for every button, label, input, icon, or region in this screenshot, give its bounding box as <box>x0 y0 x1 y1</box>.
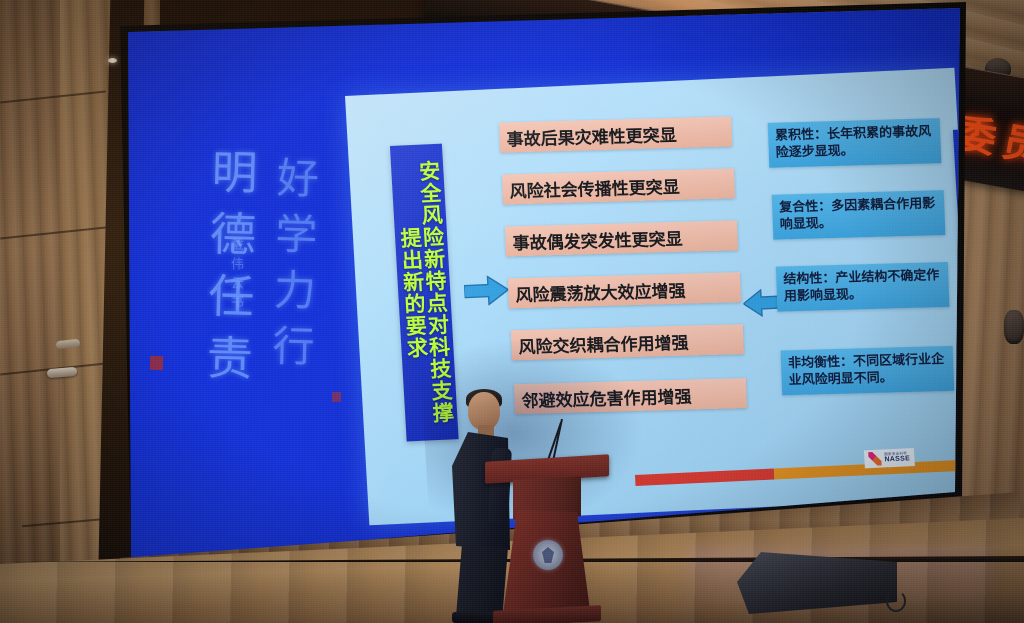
risk-feature-item: 风险交织耦合作用增强 <box>511 324 744 360</box>
conference-hall-photo: 大学应急管理实验室学术委员会专家报 明德任责 好学力行 戴伟云书 明德任责 好学… <box>0 0 1024 623</box>
risk-attribute-label: 非均衡性：不同区域行业企业风险明显不同。 <box>788 352 947 389</box>
risk-feature-item: 事故偶发突发性更突显 <box>505 220 738 256</box>
risk-feature-label: 事故后果灾难性更突显 <box>506 120 677 150</box>
calligraphy-signature: 戴伟云书 <box>226 238 245 314</box>
risk-feature-item: 邻避效应危害作用增强 <box>514 378 747 414</box>
risk-attribute-item: 累积性：长年积累的事故风险逐步显现。 <box>768 118 942 168</box>
calligraphy-left-secondary: 好学力行 <box>259 155 326 381</box>
ceiling-light-icon <box>108 58 117 63</box>
risk-feature-item: 事故后果灾难性更突显 <box>499 116 732 152</box>
risk-feature-label: 风险社会传播性更突显 <box>509 172 680 202</box>
calligraphy-left-primary: 明德任责 <box>193 147 265 397</box>
risk-feature-label: 事故偶发突发性更突显 <box>512 224 683 254</box>
nasse-logo: 国家安全科学 NASSE <box>864 448 915 468</box>
risk-feature-item: 风险社会传播性更突显 <box>502 168 735 204</box>
arrow-right-icon <box>463 275 509 307</box>
seal-stamp-icon <box>332 392 341 402</box>
seal-stamp-icon <box>150 356 163 370</box>
logo-name: NASSE <box>884 456 910 464</box>
risk-attribute-item: 复合性：多因素耦合作用影响显现。 <box>772 190 946 240</box>
ceiling-speaker-icon <box>1004 310 1024 344</box>
podium <box>487 458 607 618</box>
risk-attribute-label: 结构性：产业结构不确定作用影响显现。 <box>783 268 942 305</box>
presentation-slide: 安全风险新特点对科技支撑提出新的要求 事故后果灾难性更突显 风险社会传播性更突显… <box>345 68 979 526</box>
risk-feature-item: 风险震荡放大效应增强 <box>508 272 741 308</box>
stage-monitor-cable <box>886 590 906 612</box>
slide-section-title: 安全风险新特点对科技支撑提出新的要求 <box>394 156 454 430</box>
nasse-logo-text: 国家安全科学 NASSE <box>884 452 910 464</box>
risk-attribute-label: 累积性：长年积累的事故风险逐步显现。 <box>775 124 934 161</box>
university-emblem-icon <box>533 540 563 570</box>
nasse-logo-icon <box>868 452 882 467</box>
risk-feature-label: 风险震荡放大效应增强 <box>515 276 686 306</box>
risk-attribute-list: 累积性：长年积累的事故风险逐步显现。 复合性：多因素耦合作用影响显现。 结构性：… <box>767 116 962 454</box>
risk-attribute-item: 结构性：产业结构不确定作用影响显现。 <box>776 262 950 312</box>
risk-feature-label: 风险交织耦合作用增强 <box>518 328 689 358</box>
slide-section-title-box: 安全风险新特点对科技支撑提出新的要求 <box>390 144 459 442</box>
risk-feature-list: 事故后果灾难性更突显 风险社会传播性更突显 事故偶发突发性更突显 风险震荡放大效… <box>499 114 757 484</box>
risk-attribute-item: 非均衡性：不同区域行业企业风险明显不同。 <box>781 346 955 396</box>
risk-attribute-label: 复合性：多因素耦合作用影响显现。 <box>779 196 938 233</box>
risk-feature-label: 邻避效应危害作用增强 <box>521 382 692 412</box>
presentation-slide-wrapper: 安全风险新特点对科技支撑提出新的要求 事故后果灾难性更突显 风险社会传播性更突显… <box>345 68 979 526</box>
